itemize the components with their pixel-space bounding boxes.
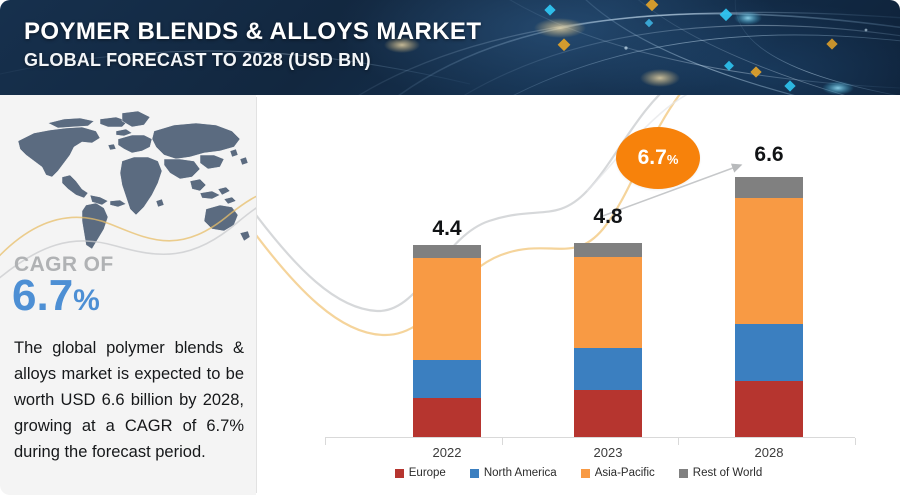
page-subtitle: GLOBAL FORECAST TO 2028 (USD BN) <box>24 48 481 72</box>
legend-label-north-america: North America <box>484 467 557 479</box>
x-axis-tick <box>855 438 856 445</box>
chart-legend: Europe North America Asia-Pacific Rest o… <box>257 467 900 479</box>
bar-segment-north-america <box>574 348 642 390</box>
legend-label-asia-pacific: Asia-Pacific <box>595 467 655 479</box>
bar-total-2022: 4.4 <box>397 217 497 241</box>
bar-segment-asia-pacific <box>574 257 642 348</box>
bar-segment-rest-of-world <box>574 243 642 257</box>
bar-segment-rest-of-world <box>413 245 481 258</box>
x-axis-tick <box>325 438 326 445</box>
legend-swatch-rest-of-world <box>679 469 688 478</box>
cagr-callout-text: 6.7% <box>638 147 679 170</box>
header-banner: POYMER BLENDS & ALLOYS MARKET GLOBAL FOR… <box>0 0 900 95</box>
cagr-callout-bubble: 6.7% <box>616 127 700 189</box>
bar-segment-asia-pacific <box>413 258 481 360</box>
x-axis-label-2028: 2028 <box>719 445 819 460</box>
bar-2028[interactable] <box>735 177 803 437</box>
legend-swatch-north-america <box>470 469 479 478</box>
x-axis-tick <box>502 438 503 445</box>
bar-2023[interactable] <box>574 243 642 437</box>
x-axis-line <box>325 437 855 438</box>
left-summary-panel: CAGR OF 6.7% The global polymer blends &… <box>0 95 256 495</box>
bar-segment-europe <box>574 390 642 437</box>
x-axis-label-2023: 2023 <box>558 445 658 460</box>
bar-segment-north-america <box>735 324 803 381</box>
cagr-percent-sign: % <box>73 284 100 317</box>
cagr-value: 6.7% <box>12 272 100 325</box>
bar-total-2023: 4.8 <box>558 205 658 229</box>
infographic-root: POYMER BLENDS & ALLOYS MARKET GLOBAL FOR… <box>0 0 900 495</box>
x-axis-label-2022: 2022 <box>397 445 497 460</box>
bar-2022[interactable] <box>413 245 481 437</box>
legend-swatch-europe <box>395 469 404 478</box>
bar-segment-asia-pacific <box>735 198 803 324</box>
chart-container: 6.7% 4.4 4.8 6.6 <box>257 95 900 495</box>
legend-item-rest-of-world[interactable]: Rest of World <box>679 467 762 479</box>
legend-item-north-america[interactable]: North America <box>470 467 557 479</box>
bar-segment-europe <box>735 381 803 437</box>
cagr-callout-value: 6.7 <box>638 146 667 169</box>
bar-segment-rest-of-world <box>735 177 803 198</box>
bar-segment-north-america <box>413 360 481 398</box>
page-title: POYMER BLENDS & ALLOYS MARKET <box>24 18 481 46</box>
legend-label-europe: Europe <box>409 467 446 479</box>
cagr-number: 6.7 <box>12 271 73 320</box>
bar-total-2028: 6.6 <box>719 143 819 167</box>
legend-item-asia-pacific[interactable]: Asia-Pacific <box>581 467 655 479</box>
legend-item-europe[interactable]: Europe <box>395 467 446 479</box>
legend-label-rest-of-world: Rest of World <box>693 467 762 479</box>
bar-segment-europe <box>413 398 481 437</box>
header-text-block: POYMER BLENDS & ALLOYS MARKET GLOBAL FOR… <box>24 18 481 72</box>
cagr-callout-percent: % <box>667 152 679 167</box>
x-axis-tick <box>678 438 679 445</box>
summary-description: The global polymer blends & alloys marke… <box>14 335 244 465</box>
legend-swatch-asia-pacific <box>581 469 590 478</box>
